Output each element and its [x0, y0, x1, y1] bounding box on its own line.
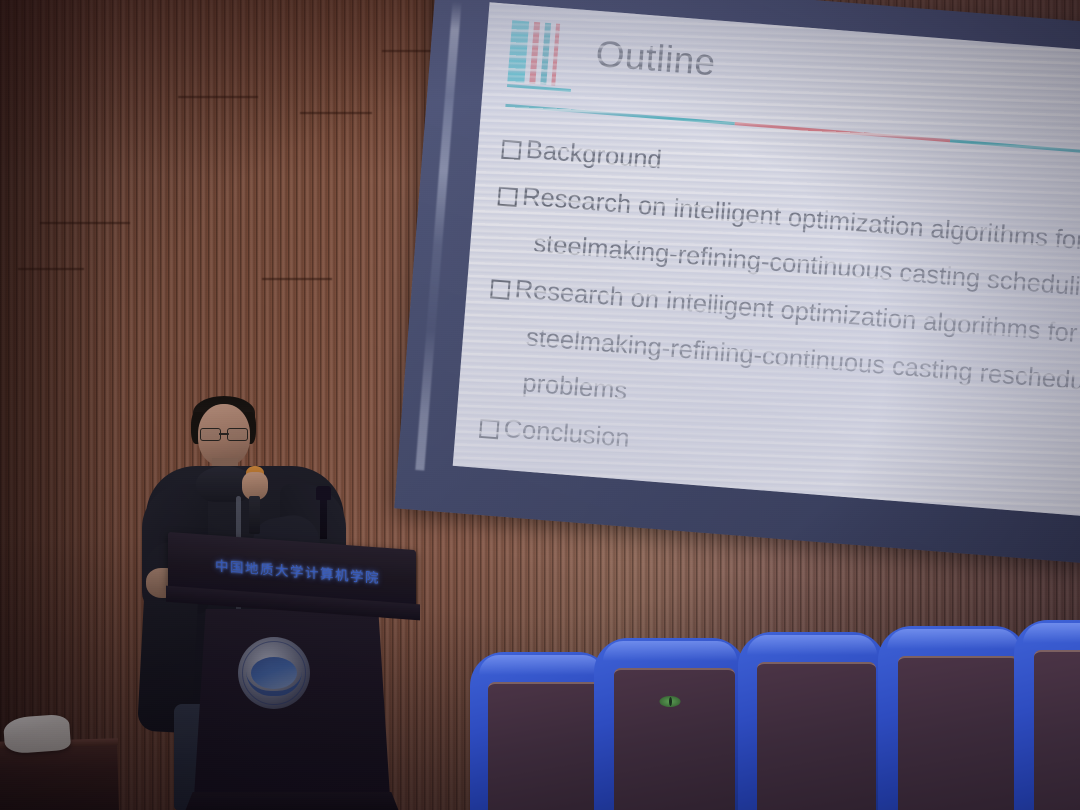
bullet-text: Conclusion [503, 413, 631, 456]
glasses-icon [200, 428, 248, 439]
chair-back-panel [488, 682, 602, 810]
auditorium-chair [878, 626, 1028, 810]
bullet-line: Conclusion [503, 413, 631, 456]
chair-back-panel [1034, 650, 1080, 810]
slide-decoration-bars [507, 20, 565, 86]
auditorium-chair [470, 652, 612, 810]
square-bullet-icon [479, 419, 499, 439]
chair-highlight [479, 655, 604, 675]
teal-bar-icon [540, 23, 551, 85]
university-emblem-icon [238, 637, 310, 709]
chair-back-panel [757, 662, 875, 810]
square-bullet-icon [501, 140, 521, 160]
red-bar-icon [529, 22, 540, 84]
lectern-base [184, 792, 400, 810]
glasses-lens [200, 428, 221, 441]
square-bullet-icon [498, 186, 518, 206]
auditorium-chair [1014, 620, 1080, 810]
rule-segment-teal [950, 139, 1080, 160]
chair-highlight [747, 635, 877, 655]
microphone-body [249, 496, 260, 534]
lectern: 中国地质大学计算机学院 [168, 537, 418, 810]
slide-bullet-list: Background Research on intelligent optim… [477, 132, 1080, 513]
auditorium-chair [594, 638, 746, 810]
slide-title: Outline [594, 33, 717, 84]
presentation-photo-scene: Outline Background Research on intellige… [0, 0, 1080, 810]
microphone-capsule-icon [316, 486, 331, 500]
chair-back-panel [898, 656, 1018, 810]
auditorium-chair [738, 632, 886, 810]
chair-highlight [603, 641, 737, 661]
bullet-text: Background [525, 134, 663, 177]
projection-screen: Outline Background Research on intellige… [394, 0, 1080, 564]
presentation-slide: Outline Background Research on intellige… [453, 2, 1080, 521]
chair-highlight [887, 629, 1019, 649]
deco-underline [507, 84, 571, 92]
rule-segment-teal [505, 104, 734, 125]
square-bullet-icon [490, 279, 510, 299]
chair-emblem-icon [660, 696, 681, 707]
cyan-block-icon [507, 20, 529, 83]
glasses-lens [227, 428, 248, 441]
chair-back-panel [614, 668, 736, 810]
bullet-line: Background [525, 134, 663, 177]
auditorium-seating [476, 612, 1080, 810]
chair-highlight [1023, 623, 1080, 643]
white-plastic-bag [3, 714, 71, 755]
red-bar-icon [551, 24, 560, 86]
gooseneck-microphone [320, 495, 327, 539]
rule-segment-red [734, 122, 950, 142]
